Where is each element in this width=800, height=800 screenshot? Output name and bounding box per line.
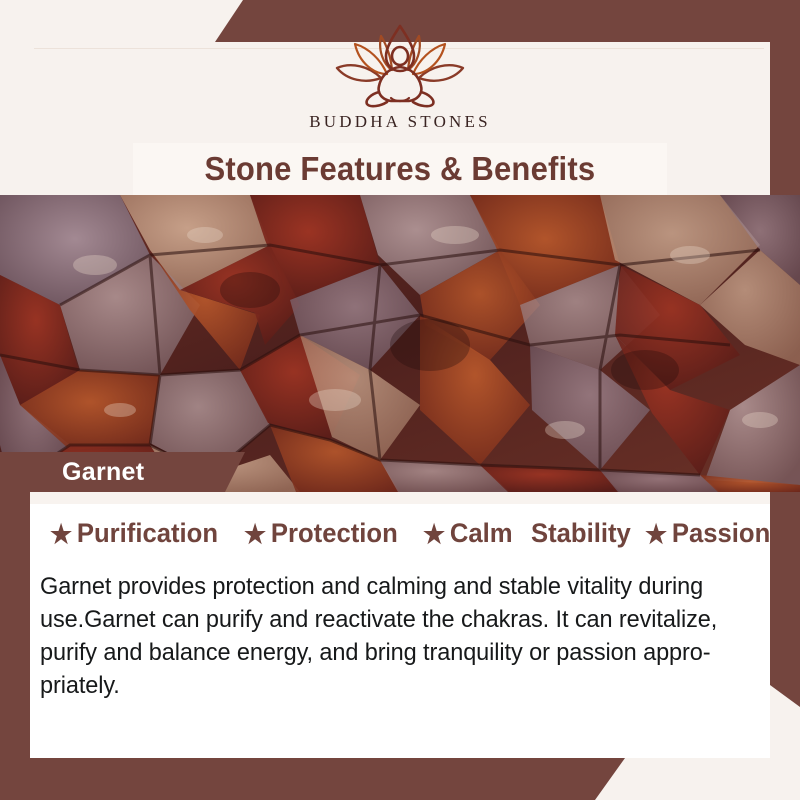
stone-photo — [0, 195, 800, 492]
benefit-label: Calm — [450, 518, 513, 549]
stone-name-banner: Garnet — [0, 452, 245, 492]
description-card: ★ Purification ★ Protection ★ Calm Stabi… — [30, 492, 770, 758]
benefit-label: Purification — [77, 518, 218, 549]
garnet-crystal-cluster-image — [0, 195, 800, 492]
section-title-band: Stone Features & Benefits — [133, 143, 667, 195]
product-info-poster: BUDDHA STONES Stone Features & Benefits — [0, 0, 800, 800]
stone-description: Garnet provides protection and calming a… — [40, 570, 733, 702]
stone-name: Garnet — [62, 458, 144, 487]
brand-logo: BUDDHA STONES — [309, 22, 491, 132]
star-icon: ★ — [50, 521, 72, 547]
benefit-label: Stability — [531, 518, 631, 549]
description-line-2: use.Garnet can purify and reactivate the… — [40, 603, 733, 636]
description-line-1: Garnet provides protection and calming a… — [40, 570, 733, 603]
lotus-meditation-icon — [325, 22, 475, 108]
frame-bottom-band — [0, 758, 625, 800]
benefit-label: Passion — [672, 518, 770, 549]
brand-name: BUDDHA STONES — [309, 112, 491, 132]
benefit-item-purification: ★ Purification — [50, 518, 218, 549]
star-icon: ★ — [244, 521, 266, 547]
description-line-4: priately. — [40, 669, 733, 702]
benefit-item-stability: Stability — [531, 518, 631, 549]
benefit-item-protection: ★ Protection — [244, 518, 398, 549]
benefit-label: Protection — [271, 518, 398, 549]
page-title: Stone Features & Benefits — [205, 150, 596, 188]
benefit-item-calm: ★ Calm — [423, 518, 513, 549]
description-line-3: purify and balance energy, and bring tra… — [40, 636, 733, 669]
star-icon: ★ — [423, 521, 445, 547]
card-top-edge — [30, 492, 770, 504]
benefit-item-passion: ★ Passion — [645, 518, 770, 549]
benefits-list: ★ Purification ★ Protection ★ Calm Stabi… — [50, 518, 756, 549]
star-icon: ★ — [645, 521, 667, 547]
